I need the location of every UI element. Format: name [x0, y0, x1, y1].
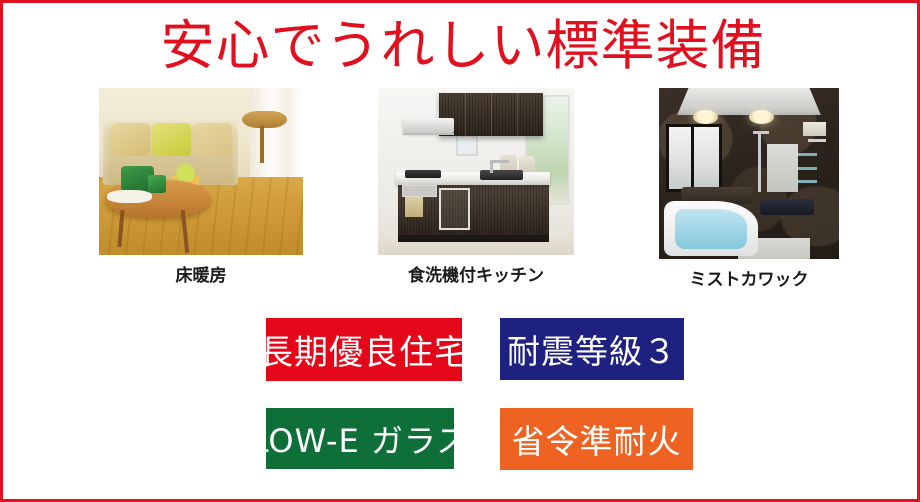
feature-card-bathroom: ミストカワック	[659, 88, 839, 290]
curtain-shape	[250, 88, 303, 188]
induction-hob-shape	[405, 170, 440, 178]
standard-equipment-slide: 安心でうれしい標準装備 床暖房	[0, 0, 920, 502]
cushion-shape	[193, 123, 232, 156]
cushion-shape	[111, 123, 150, 156]
range-hood-bar-shape	[403, 133, 454, 135]
bath-water-shape	[675, 209, 747, 248]
feature-card-floor-heating: 床暖房	[99, 88, 303, 286]
wall-panel-shape	[803, 122, 826, 136]
side-table-shape	[242, 111, 287, 128]
towel-shape	[405, 197, 423, 217]
dishwasher-shape	[439, 188, 470, 230]
shower-pole-shape	[758, 134, 761, 192]
faucet-shape	[490, 160, 493, 173]
plate-shape	[107, 190, 152, 203]
grab-bar-shape	[808, 139, 826, 142]
glass-shelf-shape	[798, 180, 818, 183]
cabinet-divider-shape	[517, 93, 518, 136]
cabinet-divider-shape	[465, 93, 466, 136]
small-window-shape	[456, 135, 478, 157]
badge-quasi-fireproof: 省令準耐火	[500, 408, 693, 470]
cushion-shape	[152, 123, 191, 156]
sink-shape	[480, 170, 523, 180]
feature-caption: 床暖房	[99, 266, 303, 286]
badge-seismic-grade-3: 耐震等級３	[500, 318, 684, 380]
cup-shape	[148, 175, 166, 193]
glass-shelf-shape	[798, 167, 818, 170]
badge-long-life-quality-housing: 長期優良住宅	[266, 318, 462, 381]
side-table-leg-shape	[260, 126, 264, 163]
feature-card-kitchen: 食洗機付キッチン	[378, 88, 574, 286]
mirror-shape	[767, 144, 798, 192]
badge-low-e-glass: LOW-E ガラス	[266, 408, 454, 469]
upper-cabinets-shape	[439, 93, 543, 136]
ceiling-light-icon	[693, 110, 718, 124]
page-title: 安心でうれしい標準装備	[3, 15, 920, 77]
cabinet-divider-shape	[491, 93, 492, 136]
range-hood-shape	[403, 118, 454, 133]
window-mullion-shape	[691, 124, 694, 192]
mist-sauna-bathroom-photo	[659, 88, 839, 259]
living-room-floor-heating-photo	[99, 88, 303, 255]
bench-shape	[760, 199, 814, 214]
ceiling-light-icon	[749, 110, 774, 124]
toe-kick-shape	[398, 235, 549, 242]
feature-caption: 食洗機付キッチン	[378, 266, 574, 286]
drawer-shape	[402, 185, 437, 197]
kitchen-with-dishwasher-photo	[378, 88, 574, 255]
glass-shelf-shape	[798, 153, 818, 156]
feature-caption: ミストカワック	[659, 270, 839, 290]
